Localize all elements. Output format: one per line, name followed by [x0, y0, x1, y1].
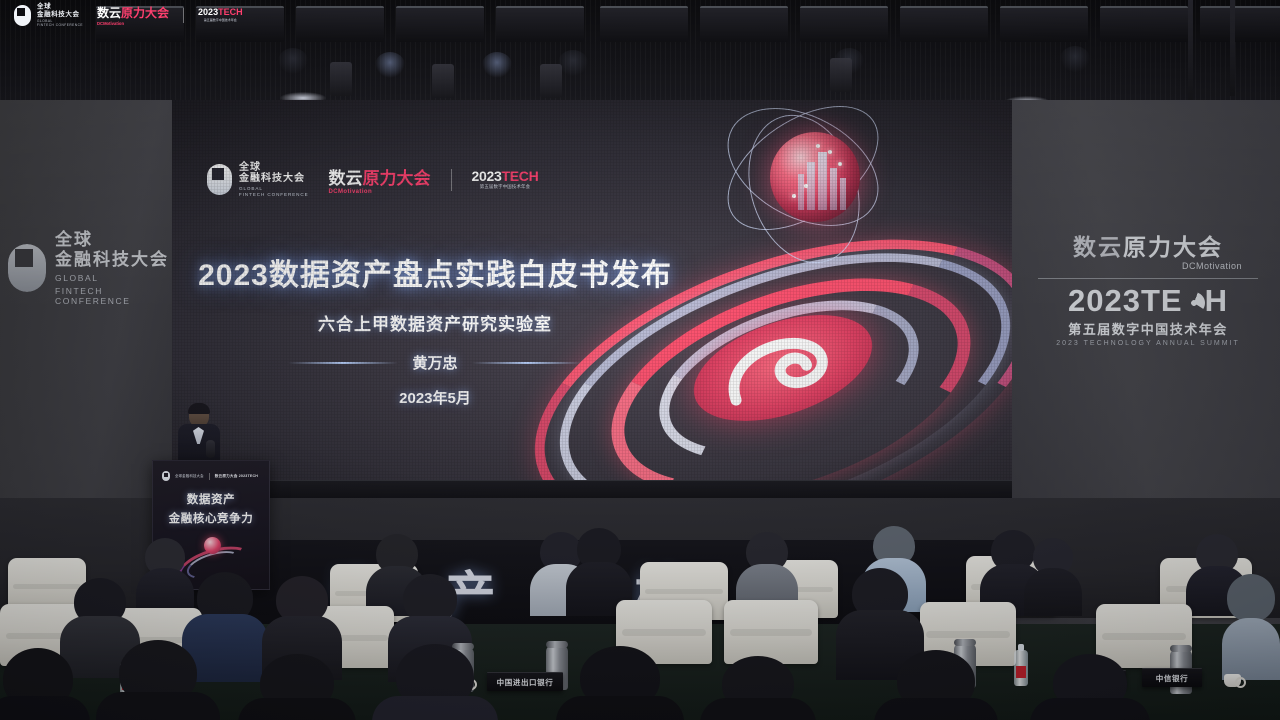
hanging-fixture-icon [830, 58, 852, 92]
stage-light-icon [558, 50, 588, 76]
tea-cup-icon [1224, 674, 1241, 687]
audience-member-foreground [1030, 654, 1150, 720]
hanging-fixture-icon [540, 64, 562, 98]
watermark-dcmotivation-logo: 数云原力大会 DCMotivation [97, 4, 169, 26]
left-wall-cn-line1: 全球 [55, 230, 172, 250]
swirl-icon [1183, 292, 1205, 314]
person-head [1227, 574, 1275, 622]
gftc-mark-icon [14, 5, 31, 26]
white-armchair [724, 600, 818, 664]
right-wall-branding: 数云原力大会 DCMotivation 2023TEH 第五届数字中国技术年会 … [1032, 228, 1264, 347]
truss-beam [900, 6, 988, 42]
water-bottle-icon [1014, 650, 1028, 686]
watermark-cn-line1: 全球 [37, 3, 83, 11]
right-wall-year-line: 2023TEH [1032, 285, 1264, 316]
watermark-en-line2: FINTECH CONFERENCE [37, 23, 83, 27]
stage-light-icon [278, 48, 308, 74]
truss-beam [296, 6, 384, 42]
podium-title-line1: 数据资产 [153, 491, 269, 507]
right-wall-te: TE [1141, 283, 1183, 318]
presenter-figure [176, 404, 222, 468]
person-torso [238, 698, 356, 720]
table-nameplate: 中信银行 [1142, 668, 1202, 687]
table-nameplate: 中国进出口银行 [487, 672, 563, 691]
audience-member-foreground [700, 656, 816, 720]
audience-member [1222, 574, 1280, 680]
left-wall-en-line1: GLOBAL [55, 273, 172, 283]
podium-logo-right-cn: 数云原力大会 2023TECH [215, 474, 258, 479]
stage-light-icon [375, 52, 405, 78]
audience-member-foreground [556, 646, 684, 720]
gftc-mark-icon [8, 244, 46, 292]
nameplate-label: 中国进出口银行 [497, 677, 554, 688]
watermark-center-cn-dark: 数云 [97, 6, 121, 20]
audience-area: 中国进出口银行 中信银行 中信银行 [0, 528, 1280, 720]
person-torso [96, 692, 220, 720]
ceiling-pole [1188, 0, 1193, 106]
right-wall-cn-title: 第五届数字中国技术年会 [1032, 319, 1264, 338]
left-wall-en-line2: FINTECH CONFERENCE [55, 286, 172, 306]
watermark-divider [183, 8, 184, 23]
right-wall-year: 2023 [1068, 283, 1141, 318]
truss-beam [1200, 6, 1280, 42]
conference-stage-scene: 全球 金融科技大会 GLOBAL FINTECH CONFERENCE 数云原力… [0, 0, 1280, 720]
podium-logo-row: 全球金融科技大会 数云原力大会 2023TECH [162, 471, 258, 481]
watermark-right-sub: 第五届数字中国技术年会 [204, 18, 237, 22]
person-torso [1030, 698, 1150, 720]
truss-beam [800, 6, 888, 42]
presenter-hair [188, 403, 210, 414]
audience-member-foreground [238, 654, 356, 720]
stage-light-icon [1060, 46, 1090, 72]
watermark-right-tech: TECH [218, 7, 243, 17]
truss-beam [396, 6, 484, 42]
podium-logo-divider [209, 473, 210, 480]
right-wall-h: H [1205, 283, 1228, 318]
podium-logo-left-cn: 全球金融科技大会 [175, 474, 204, 478]
person-torso [0, 696, 90, 720]
microphone-icon [206, 440, 215, 458]
watermark-center-sub: DCMotivation [97, 21, 169, 26]
stage-front-edge [172, 480, 1012, 499]
watermark-cn-line2: 金融科技大会 [37, 11, 83, 19]
truss-beam [1100, 6, 1188, 42]
person-torso [372, 696, 498, 720]
truss-beam [1000, 6, 1088, 42]
podium-title-line2: 金融核心竞争力 [153, 510, 269, 526]
hanging-fixture-icon [432, 64, 454, 98]
truss-beam [496, 6, 584, 42]
watermark-center-cn: 数云原力大会 [97, 4, 169, 21]
right-wall-en-title: 2023 TECHNOLOGY ANNUAL SUMMIT [1032, 340, 1264, 347]
nameplate-label: 中信银行 [1156, 673, 1188, 684]
watermark-gftc-logo: 全球 金融科技大会 GLOBAL FINTECH CONFERENCE [14, 3, 83, 27]
audience-member-foreground [372, 644, 498, 720]
audience-member-foreground [874, 650, 998, 720]
hanging-fixture-icon [330, 62, 352, 96]
gftc-mark-icon [162, 471, 170, 481]
stage-light-icon [482, 52, 512, 78]
truss-beam [600, 6, 688, 42]
audience-member [1024, 538, 1082, 616]
watermark-right-year: 2023 [198, 7, 218, 17]
right-wall-divider [1038, 278, 1258, 279]
broadcast-watermark-bar: 全球 金融科技大会 GLOBAL FINTECH CONFERENCE 数云原力… [0, 0, 243, 30]
watermark-tech-logo: 2023TECH 第五届数字中国技术年会 [198, 8, 243, 22]
ceiling-pole [1230, 0, 1235, 96]
person-torso [1024, 568, 1082, 616]
person-torso [556, 696, 684, 720]
audience-member-foreground [96, 640, 220, 720]
watermark-center-cn-pink: 原力大会 [121, 6, 169, 20]
person-torso [1222, 618, 1280, 680]
left-wall-cn-line2: 金融科技大会 [55, 250, 172, 270]
podium-title: 数据资产 金融核心竞争力 [153, 491, 269, 526]
person-torso [700, 698, 816, 720]
right-wall-brand-cn-white: 原力大会 [1123, 234, 1223, 260]
watermark-right-year-line: 2023TECH [198, 8, 243, 17]
right-wall-brand-line: 数云原力大会 [1032, 228, 1264, 262]
left-wall-branding: 全球 金融科技大会 GLOBAL FINTECH CONFERENCE [8, 230, 172, 306]
truss-beam [700, 6, 788, 42]
right-wall-brand-en: DCMotivation [1032, 261, 1264, 271]
audience-member-foreground [0, 648, 90, 720]
right-wall-brand-cn-grey: 数云 [1073, 234, 1123, 260]
person-torso [874, 698, 998, 720]
